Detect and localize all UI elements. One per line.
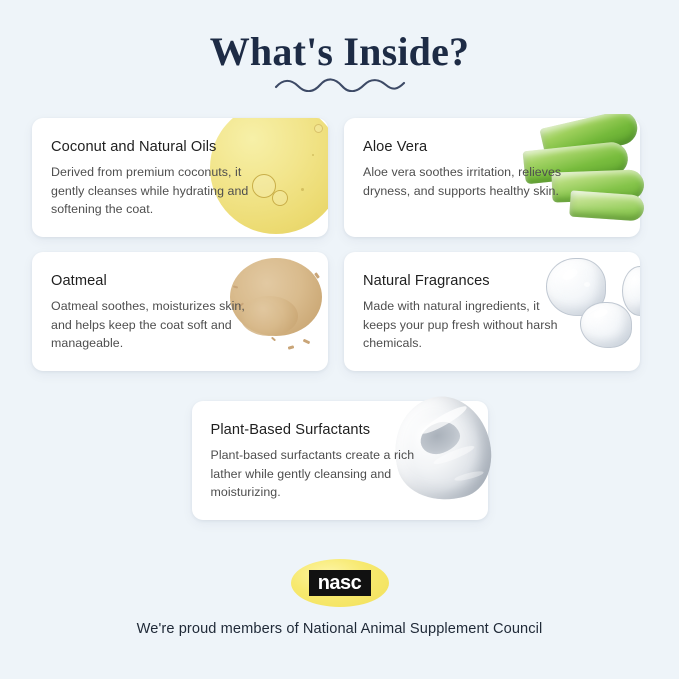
nasc-logo-plate: nasc (309, 570, 371, 596)
wavy-underline-icon (274, 78, 406, 92)
ingredient-card-aloe-vera[interactable]: Aloe Vera Aloe vera soothes irritation, … (344, 118, 640, 237)
nasc-logo: nasc (291, 559, 389, 607)
card-title: Coconut and Natural Oils (51, 139, 263, 156)
footer-membership-text: We're proud members of National Animal S… (0, 621, 679, 637)
card-description: Plant-based surfactants create a rich la… (211, 446, 423, 503)
card-title: Oatmeal (51, 273, 263, 290)
card-title: Plant-Based Surfactants (211, 422, 423, 439)
nasc-logo-text: nasc (318, 573, 362, 593)
page-footer: nasc We're proud members of National Ani… (0, 559, 679, 637)
ingredient-card-oatmeal[interactable]: Oatmeal Oatmeal soothes, moisturizes ski… (32, 252, 328, 371)
card-description: Derived from premium coconuts, it gently… (51, 163, 263, 220)
ingredient-card-coconut-oils[interactable]: Coconut and Natural Oils Derived from pr… (32, 118, 328, 237)
page-title: What's Inside? (0, 32, 679, 72)
card-description: Oatmeal soothes, moisturizes skin, and h… (51, 297, 263, 354)
ingredient-card-grid: Coconut and Natural Oils Derived from pr… (32, 118, 647, 520)
card-description: Aloe vera soothes irritation, relieves d… (363, 163, 575, 201)
card-title: Natural Fragrances (363, 273, 575, 290)
card-description: Made with natural ingredients, it keeps … (363, 297, 575, 354)
page-header: What's Inside? (0, 0, 679, 92)
card-title: Aloe Vera (363, 139, 575, 156)
ingredient-card-natural-fragrances[interactable]: Natural Fragrances Made with natural ing… (344, 252, 640, 371)
ingredient-card-plant-based-surfactants[interactable]: Plant-Based Surfactants Plant-based surf… (192, 401, 488, 520)
